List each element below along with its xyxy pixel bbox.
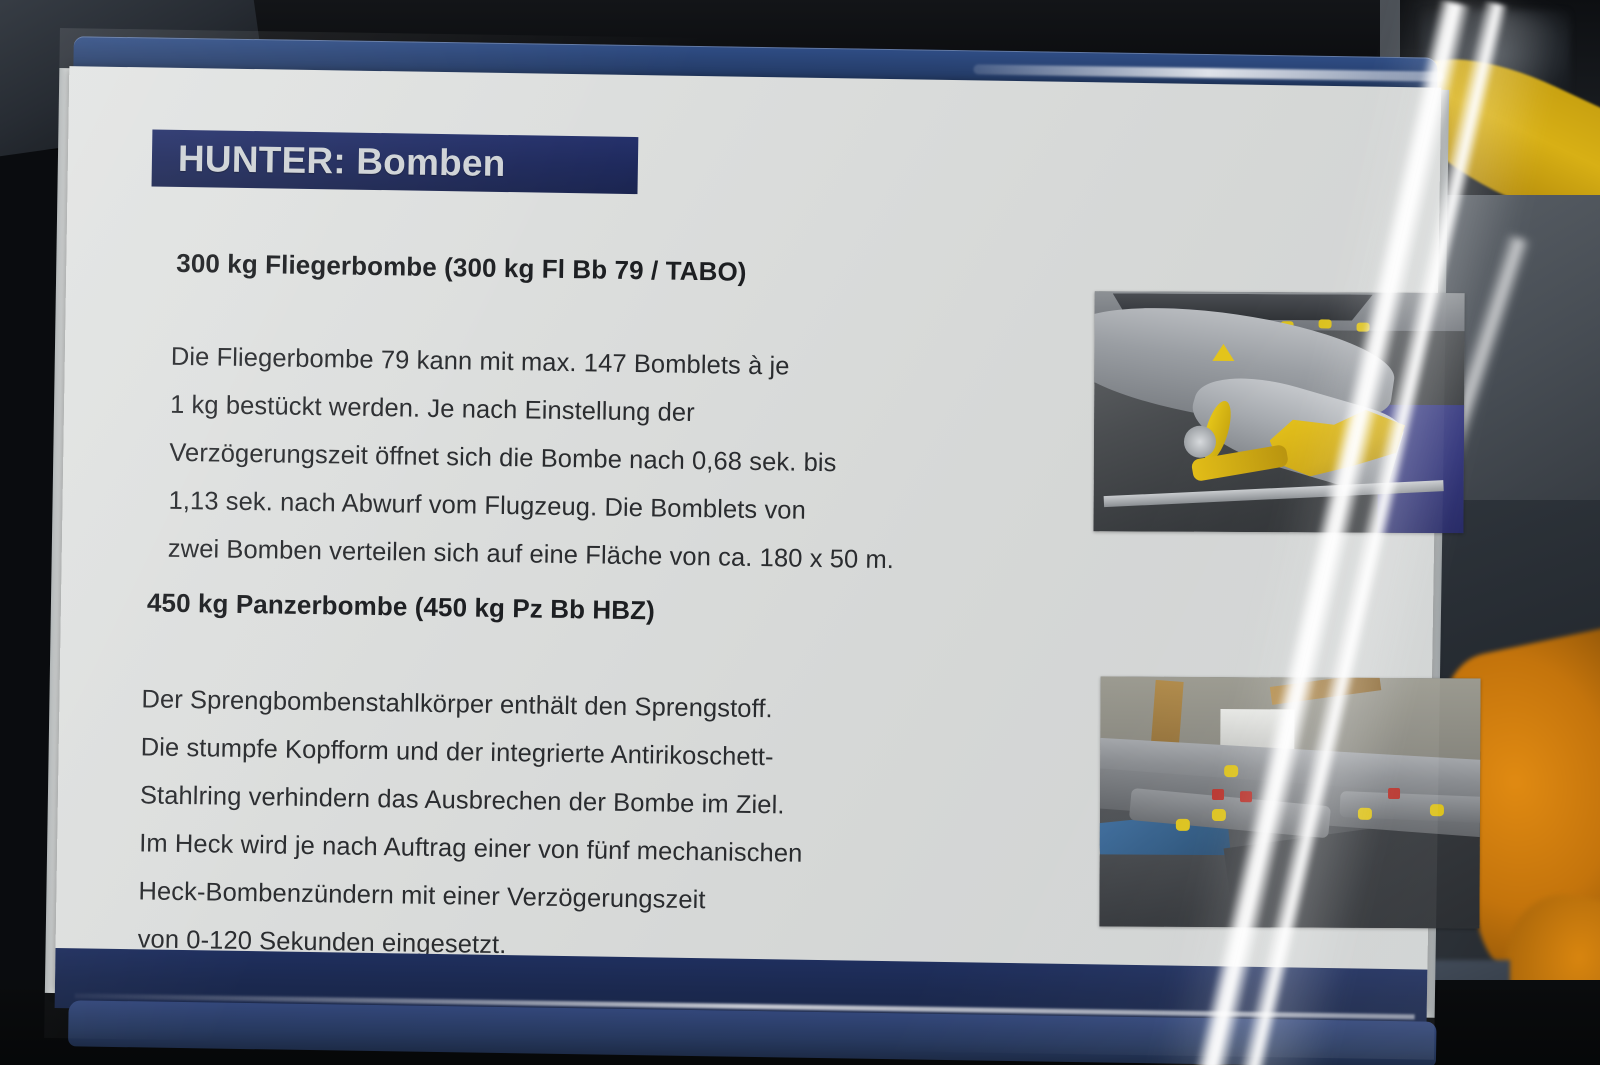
photo2-yellow-marker <box>1430 804 1444 816</box>
photo1-warning-triangle-icon <box>1212 344 1234 361</box>
photo-bomb-on-trolley <box>1093 291 1464 533</box>
page-title: HUNTER: Bomben <box>152 139 506 182</box>
placard-content: HUNTER: Bomben 300 kg Fliegerbombe (300 … <box>55 66 1441 1012</box>
museum-information-placard: HUNTER: Bomben 300 kg Fliegerbombe (300 … <box>44 28 1450 1060</box>
photo2-red-marker <box>1240 791 1252 802</box>
photo-bombs-under-wing <box>1099 676 1480 928</box>
placard-title-bar: HUNTER: Bomben <box>152 129 639 194</box>
photo2-red-marker <box>1212 789 1224 800</box>
body-line: zwei Bomben verteilen sich auf eine Fläc… <box>167 525 894 584</box>
photo2-yellow-marker <box>1212 809 1226 821</box>
section-heading-fliegerbombe: 300 kg Fliegerbombe (300 kg Fl Bb 79 / T… <box>176 248 747 288</box>
photo2-yellow-marker <box>1176 819 1190 831</box>
section-heading-panzerbombe: 450 kg Panzerbombe (450 kg Pz Bb HBZ) <box>147 587 655 626</box>
section-body-fliegerbombe: Die Fliegerbombe 79 kann mit max. 147 Bo… <box>167 333 897 584</box>
screenshot-stage: HUNTER: Bomben 300 kg Fliegerbombe (300 … <box>0 0 1600 1065</box>
top-rail-gloss-highlight <box>973 64 1443 81</box>
section-body-panzerbombe: Der Sprengbombenstahlkörper enthält den … <box>137 675 805 973</box>
photo1-bomb-nose <box>1184 426 1216 458</box>
photo2-yellow-marker <box>1224 765 1238 777</box>
photo2-yellow-marker <box>1358 808 1372 820</box>
photo2-red-marker <box>1388 788 1400 799</box>
